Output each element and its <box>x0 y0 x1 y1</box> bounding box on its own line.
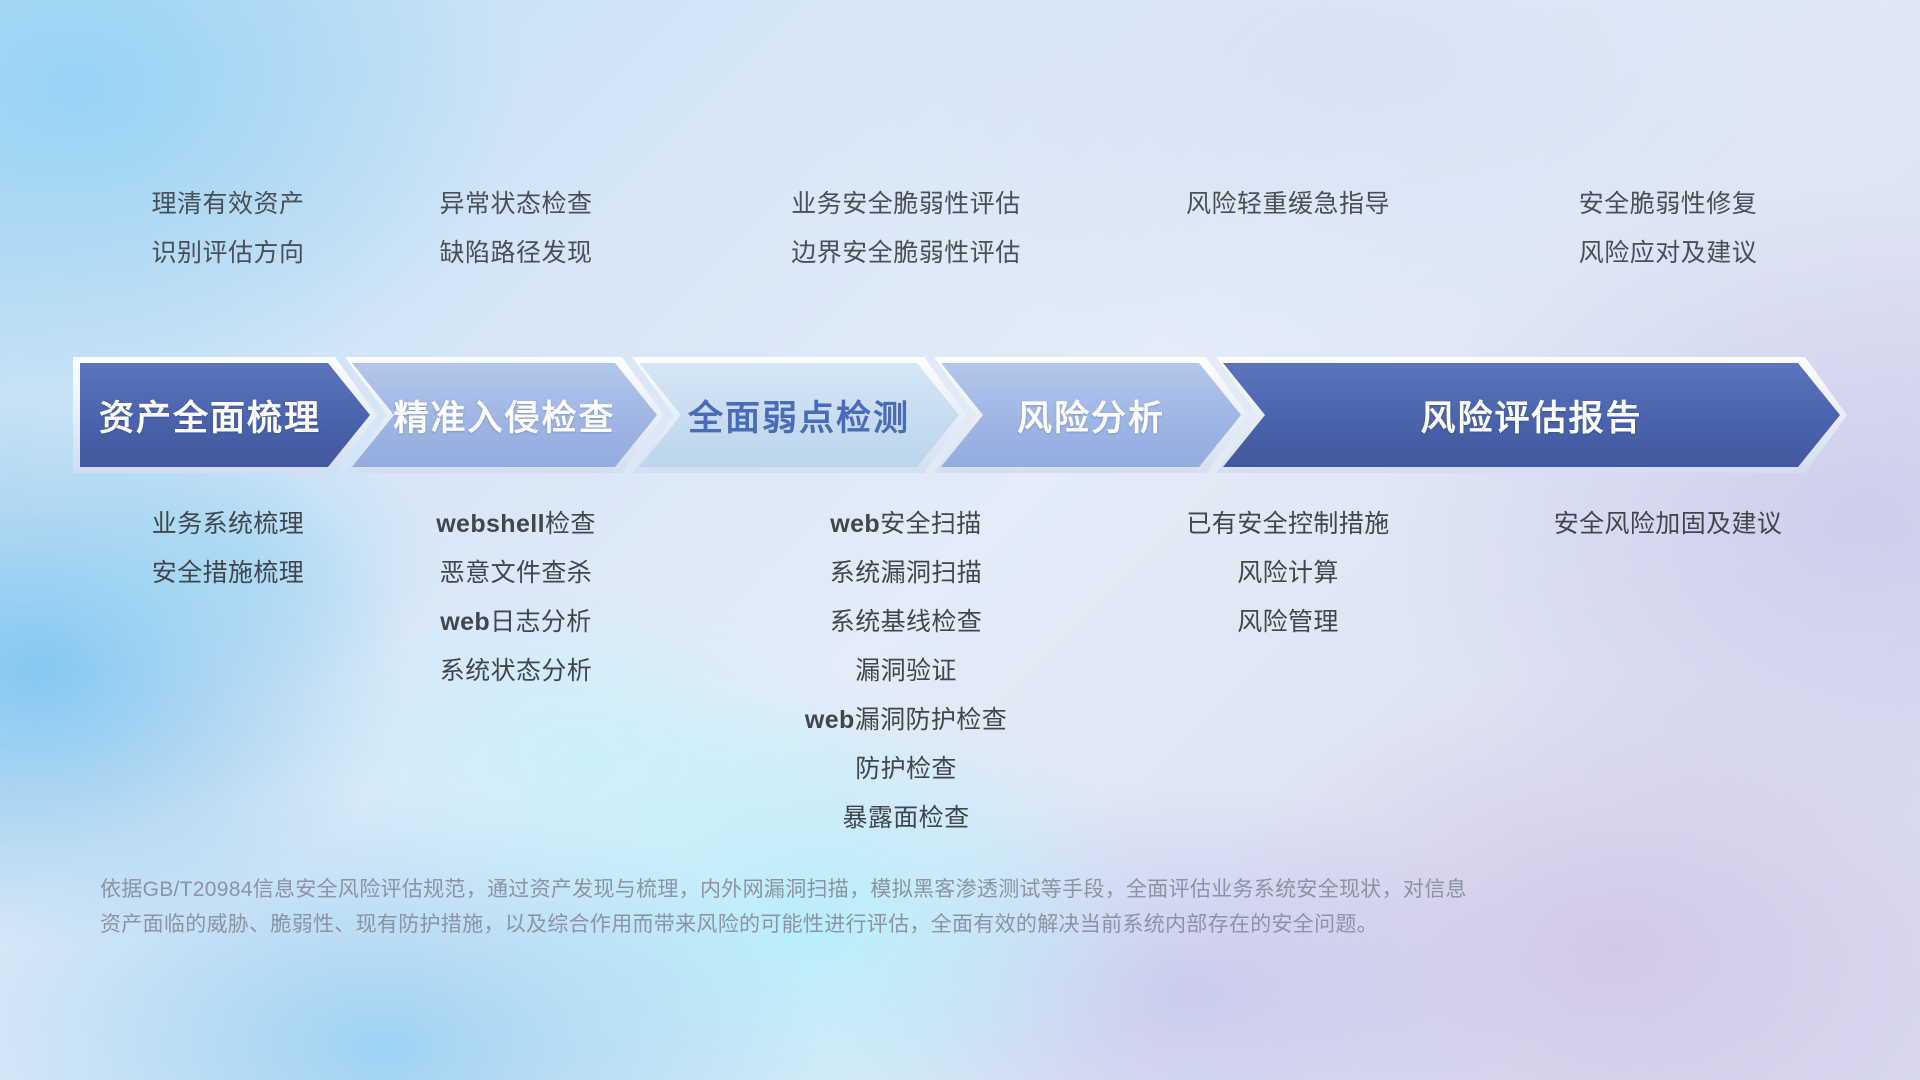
process-stage-2[interactable]: 精准入侵检查 <box>352 363 657 467</box>
detail-list-column: 安全风险加固及建议 <box>1448 500 1888 549</box>
list-item: 暴露面检查 <box>842 794 969 843</box>
caption-column: 安全脆弱性修复风险应对及建议 <box>1468 180 1868 278</box>
list-item: 系统状态分析 <box>440 647 592 696</box>
list-item-keyword: web <box>440 608 490 636</box>
list-item: 系统基线检查 <box>830 598 982 647</box>
footer-line-2: 资产面临的威胁、脆弱性、现有防护措施，以及综合作用而带来风险的可能性进行评估，全… <box>100 907 1800 942</box>
detail-list-column: 已有安全控制措施风险计算风险管理 <box>1068 500 1508 647</box>
caption-line: 缺陷路径发现 <box>439 229 592 278</box>
caption-line: 识别评估方向 <box>151 229 304 278</box>
process-chevron-banner: 资产全面梳理精准入侵检查全面弱点检测风险分析风险评估报告 <box>0 363 1920 467</box>
caption-column: 业务安全脆弱性评估边界安全脆弱性评估 <box>706 180 1106 278</box>
caption-line: 安全脆弱性修复 <box>1579 180 1758 229</box>
caption-line: 理清有效资产 <box>151 180 304 229</box>
list-item: 业务系统梳理 <box>152 500 304 549</box>
list-item-keyword: webshell <box>436 510 545 538</box>
process-stage-5[interactable]: 风险评估报告 <box>1223 363 1840 467</box>
caption-line: 风险轻重缓急指导 <box>1186 180 1390 229</box>
list-item: web漏洞防护检查 <box>805 696 1007 745</box>
process-stage-1[interactable]: 资产全面梳理 <box>80 363 370 467</box>
caption-column: 风险轻重缓急指导 <box>1088 180 1488 229</box>
process-stage-3[interactable]: 全面弱点检测 <box>639 363 959 467</box>
list-item: 风险管理 <box>1237 598 1339 647</box>
caption-column: 异常状态检查缺陷路径发现 <box>316 180 716 278</box>
process-stage-4[interactable]: 风险分析 <box>941 363 1241 467</box>
caption-line: 边界安全脆弱性评估 <box>791 229 1021 278</box>
footer-line-1: 依据GB/T20984信息安全风险评估规范，通过资产发现与梳理，内外网漏洞扫描，… <box>100 872 1800 907</box>
stage-label: 资产全面梳理 <box>99 390 321 441</box>
caption-line: 异常状态检查 <box>439 180 592 229</box>
detail-list-column: webshell检查恶意文件查杀web日志分析系统状态分析 <box>296 500 736 696</box>
list-item-rest: 漏洞防护检查 <box>855 706 1007 734</box>
list-item: 安全措施梳理 <box>152 549 304 598</box>
list-item: webshell检查 <box>436 500 596 549</box>
list-item: 漏洞验证 <box>855 647 957 696</box>
list-item: web安全扫描 <box>830 500 981 549</box>
list-item-rest: 日志分析 <box>490 608 592 636</box>
detail-list-column: web安全扫描系统漏洞扫描系统基线检查漏洞验证web漏洞防护检查防护检查暴露面检… <box>686 500 1126 843</box>
list-item-keyword: web <box>805 706 855 734</box>
stage-label: 风险分析 <box>1017 390 1165 441</box>
list-item: 防护检查 <box>855 745 957 794</box>
list-item-rest: 检查 <box>545 510 596 538</box>
infographic-page: 理清有效资产识别评估方向异常状态检查缺陷路径发现业务安全脆弱性评估边界安全脆弱性… <box>0 0 1920 1080</box>
footer-description: 依据GB/T20984信息安全风险评估规范，通过资产发现与梳理，内外网漏洞扫描，… <box>100 872 1800 942</box>
caption-line: 风险应对及建议 <box>1579 229 1758 278</box>
caption-line: 业务安全脆弱性评估 <box>791 180 1021 229</box>
list-item: 系统漏洞扫描 <box>830 549 982 598</box>
list-item-keyword: web <box>830 510 880 538</box>
stage-label: 精准入侵检查 <box>393 390 615 441</box>
list-item: 风险计算 <box>1237 549 1339 598</box>
top-captions-row: 理清有效资产识别评估方向异常状态检查缺陷路径发现业务安全脆弱性评估边界安全脆弱性… <box>0 180 1920 290</box>
list-item: web日志分析 <box>440 598 591 647</box>
list-item: 恶意文件查杀 <box>440 549 592 598</box>
stage-label: 风险评估报告 <box>1420 390 1642 441</box>
list-item: 已有安全控制措施 <box>1186 500 1389 549</box>
list-item-rest: 安全扫描 <box>880 510 982 538</box>
stage-label: 全面弱点检测 <box>688 390 910 441</box>
list-item: 安全风险加固及建议 <box>1554 500 1783 549</box>
